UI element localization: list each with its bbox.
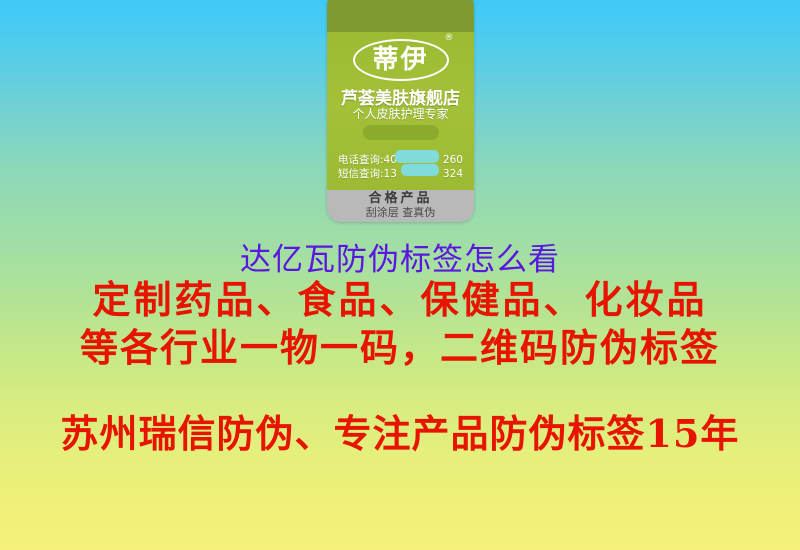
redaction-blur-sms [401, 164, 439, 176]
brand-logo-oval: 蒂伊 [353, 39, 449, 81]
brand-logo-text: 蒂伊 [372, 47, 428, 73]
promo-line-1: 定制药品、食品、保健品、化妆品 [0, 269, 800, 324]
page-canvas: 蒂伊 ® 芦荟美肤旗舰店 个人皮肤护理专家 电话查询:40260 短信查询:13… [0, 0, 800, 550]
scratch-off-panel [363, 125, 439, 140]
promo-line-3: 苏州瑞信防伪、专注产品防伪标签15年 [0, 403, 800, 458]
registered-trademark-icon: ® [445, 34, 454, 43]
label-top-strip [327, 0, 474, 32]
brand-tagline: 个人皮肤护理专家 [327, 105, 474, 122]
product-label-image: 蒂伊 ® 芦荟美肤旗舰店 个人皮肤护理专家 电话查询:40260 短信查询:13… [327, 0, 474, 222]
contact-sms-prefix: 短信查询:13 [338, 168, 397, 180]
contact-sms-suffix: 324 [443, 168, 463, 180]
contact-phone-suffix: 260 [443, 154, 463, 166]
promo-line-2: 等各行业一物一码，二维码防伪标签 [0, 317, 800, 372]
verification-instruction: 刮涂层 查真伪 [327, 204, 474, 220]
contact-phone-prefix: 电话查询:40 [338, 154, 397, 166]
redaction-blur-phone [395, 150, 439, 163]
